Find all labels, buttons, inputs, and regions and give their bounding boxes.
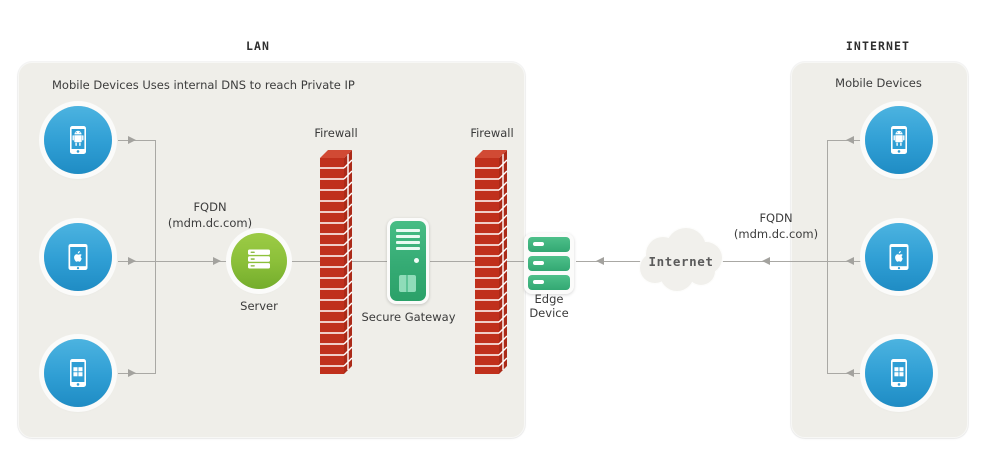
edge-device-label: Edge Device [509,292,589,321]
internet-device-apple-tablet[interactable] [865,223,933,291]
edge-device-label-line1: Edge [509,292,589,306]
gateway-status-light [414,258,419,263]
server-label: Server [209,299,309,313]
internet-arrow-device3 [846,369,854,377]
lan-panel-note: Mobile Devices Uses internal DNS to reac… [52,78,355,92]
internet-device-windows-phone[interactable] [865,339,933,407]
lan-link-bus-to-server [155,261,233,262]
edge-device-unit [528,237,570,252]
firewall-inner-label: Firewall [290,126,382,140]
lan-device-android-phone[interactable] [44,106,112,174]
arrow-cloud-to-edge [596,257,604,265]
internet-panel-caption: Mobile Devices [801,76,956,90]
lan-arrow-device3 [128,369,136,377]
lan-fqdn-line2: (mdm.dc.com) [150,216,270,232]
apple-tablet-icon [61,240,95,274]
windows-phone-icon [61,356,95,390]
internet-arrow-device1 [846,136,854,144]
secure-gateway-body [390,221,426,301]
internet-collector-bus [827,140,828,374]
internet-zone-title: INTERNET [818,39,938,53]
lan-arrow-device2 [128,257,136,265]
lan-link-device3 [118,373,155,374]
secure-gateway-node[interactable] [387,218,429,304]
android-phone-icon [61,123,95,157]
lan-fqdn-line1: FQDN [150,200,270,216]
lan-device-apple-tablet[interactable] [44,223,112,291]
firewall-outer-label: Firewall [446,126,538,140]
server-icon [243,243,275,279]
lan-link-firewall-to-gateway [348,261,388,262]
gateway-drive-panel [399,275,416,292]
apple-tablet-icon [882,240,916,274]
edge-device-label-line2: Device [509,306,589,320]
edge-device-node[interactable] [524,233,574,294]
internet-fqdn-label: FQDN (mdm.dc.com) [714,211,838,242]
internet-fqdn-line1: FQDN [714,211,838,227]
lan-arrow-device1 [128,136,136,144]
link-cloud-to-internet [722,261,827,262]
firewall-inner [318,142,354,378]
edge-device-unit [528,256,570,271]
gateway-vent [396,241,420,244]
lan-fqdn-label: FQDN (mdm.dc.com) [150,200,270,231]
lan-device-windows-phone[interactable] [44,339,112,407]
lan-collector-bus [155,140,156,374]
firewall-outer [473,142,509,378]
gateway-vent [396,247,420,250]
lan-link-device2 [118,261,155,262]
gateway-vent [396,229,420,232]
gateway-vent [396,235,420,238]
internet-arrow-device2 [846,257,854,265]
lan-zone-title: LAN [198,39,318,53]
network-diagram: LAN INTERNET Mobile Devices Uses interna… [0,0,984,470]
windows-phone-icon [882,356,916,390]
internet-device-android-phone[interactable] [865,106,933,174]
link-edge-to-cloud [576,261,641,262]
android-phone-icon [882,123,916,157]
internet-cloud-label: Internet [633,254,729,269]
internet-fqdn-line2: (mdm.dc.com) [714,227,838,243]
edge-device-unit [528,275,570,290]
secure-gateway-label: Secure Gateway [356,310,461,324]
arrow-internet-to-cloud [762,257,770,265]
internet-link-device2 [820,261,865,262]
lan-link-device1 [118,140,155,141]
server-node[interactable] [231,233,287,289]
lan-arrow-to-server [213,257,221,265]
